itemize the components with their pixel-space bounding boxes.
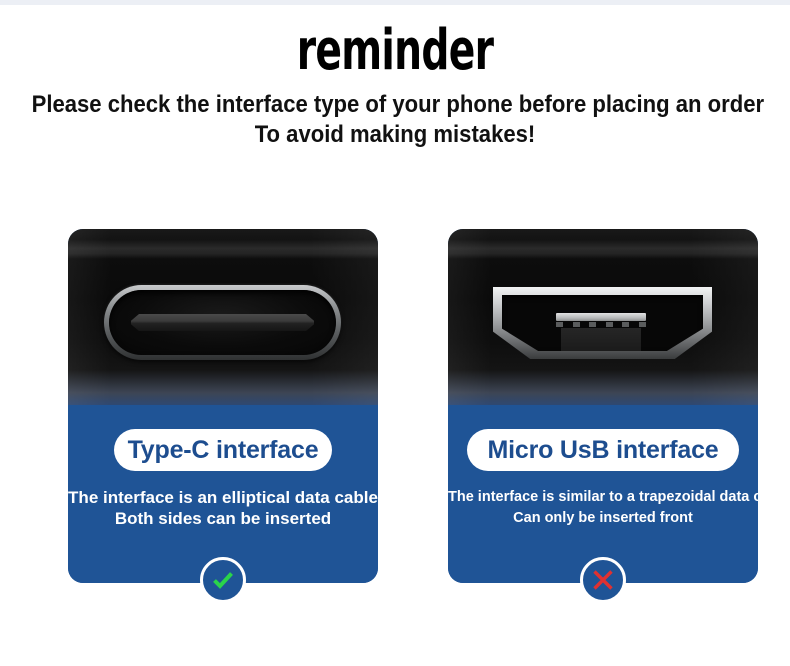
micro-usb-pins bbox=[556, 322, 646, 327]
micro-usb-port-icon bbox=[493, 287, 712, 359]
description-micro-usb: The interface is similar to a trapezoida… bbox=[448, 487, 758, 529]
phone-body-micro-usb bbox=[448, 229, 758, 405]
status-badge-type-c bbox=[200, 557, 246, 603]
description-line-2: Can only be inserted front bbox=[448, 508, 758, 529]
phone-body-type-c bbox=[68, 229, 378, 405]
usb-type-c-tongue bbox=[131, 314, 314, 331]
subtitle-line-2: To avoid making mistakes! bbox=[32, 120, 759, 150]
description-line-2: Both sides can be inserted bbox=[68, 508, 378, 529]
status-badge-micro-usb bbox=[580, 557, 626, 603]
description-line-1: The interface is similar to a trapezoida… bbox=[448, 487, 758, 508]
subtitle-line-1: Please check the interface type of your … bbox=[32, 90, 759, 120]
check-icon bbox=[209, 566, 237, 594]
label-pill-type-c: Type-C interface bbox=[114, 429, 332, 471]
description-type-c: The interface is an elliptical data cabl… bbox=[68, 487, 378, 529]
bottom-spacer bbox=[0, 583, 790, 666]
cross-icon bbox=[590, 567, 616, 593]
description-line-1: The interface is an elliptical data cabl… bbox=[68, 487, 378, 508]
page-subtitle: Please check the interface type of your … bbox=[32, 90, 759, 150]
micro-usb-contact-bar bbox=[556, 313, 646, 321]
card-type-c[interactable]: Type-C interface The interface is an ell… bbox=[68, 229, 378, 583]
header: reminder Please check the interface type… bbox=[0, 5, 790, 150]
card-micro-usb[interactable]: Micro UsB interface The interface is sim… bbox=[448, 229, 758, 583]
micro-usb-tongue bbox=[561, 328, 641, 351]
label-pill-micro-usb: Micro UsB interface bbox=[467, 429, 739, 471]
page-title: reminder bbox=[119, 18, 672, 84]
usb-type-c-port-cavity bbox=[109, 290, 336, 355]
usb-type-c-port-icon bbox=[104, 285, 341, 360]
